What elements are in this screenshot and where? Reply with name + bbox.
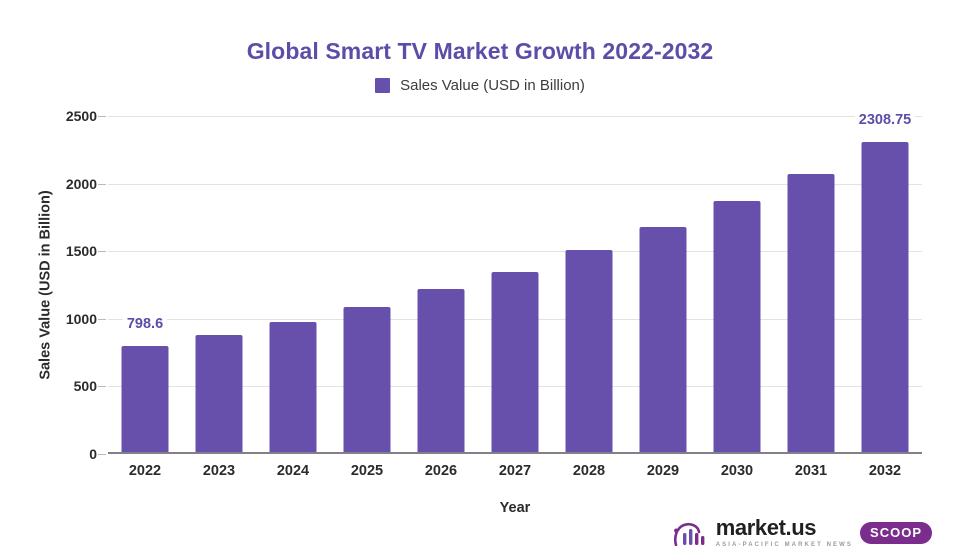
market-us-logo-icon xyxy=(673,520,707,546)
y-tick-mark xyxy=(98,116,106,117)
bar[interactable] xyxy=(122,346,169,454)
x-tick-label: 2027 xyxy=(499,463,531,479)
chart-title: Global Smart TV Market Growth 2022-2032 xyxy=(0,38,960,65)
y-tick-label: 2000 xyxy=(66,176,97,192)
bar[interactable] xyxy=(418,289,465,454)
x-tick-label: 2031 xyxy=(795,463,827,479)
bar[interactable] xyxy=(196,335,243,454)
bar-group: 2023 xyxy=(182,116,256,454)
bar-group: 2025 xyxy=(330,116,404,454)
bar-value-label: 798.6 xyxy=(123,316,167,332)
x-tick-label: 2032 xyxy=(869,463,901,479)
bar-group: 798.62022 xyxy=(108,116,182,454)
legend-label-sales-value: Sales Value (USD in Billion) xyxy=(400,77,585,94)
brand-wordmark: market.us ASIA-PACIFIC MARKET NEWS xyxy=(716,517,853,548)
chart-card: Global Smart TV Market Growth 2022-2032 … xyxy=(0,0,960,560)
y-tick-label: 2500 xyxy=(66,108,97,124)
brand-name: market.us xyxy=(716,517,816,539)
y-tick-label: 0 xyxy=(89,446,97,462)
brand-tagline: ASIA-PACIFIC MARKET NEWS xyxy=(716,542,853,548)
bar[interactable] xyxy=(640,227,687,454)
bar-group: 2308.752032 xyxy=(848,116,922,454)
bar[interactable] xyxy=(344,307,391,454)
bar-group: 2031 xyxy=(774,116,848,454)
y-tick-mark xyxy=(98,319,106,320)
x-tick-label: 2024 xyxy=(277,463,309,479)
bar[interactable] xyxy=(492,272,539,454)
x-axis-title: Year xyxy=(108,500,922,516)
y-tick-mark xyxy=(98,386,106,387)
y-tick-mark xyxy=(98,251,106,252)
y-tick-label: 1000 xyxy=(66,311,97,327)
plot-area: 05001000150020002500 798.620222023202420… xyxy=(108,116,922,454)
bar-group: 2026 xyxy=(404,116,478,454)
y-axis-title: Sales Value (USD in Billion) xyxy=(36,116,56,454)
bar-group: 2027 xyxy=(478,116,552,454)
y-axis-title-text: Sales Value (USD in Billion) xyxy=(38,190,54,379)
x-tick-label: 2026 xyxy=(425,463,457,479)
bar[interactable] xyxy=(862,142,909,454)
brand-badge-scoop: SCOOP xyxy=(860,522,932,544)
x-tick-label: 2030 xyxy=(721,463,753,479)
y-tick-label: 500 xyxy=(74,378,97,394)
bar[interactable] xyxy=(566,250,613,454)
x-tick-label: 2022 xyxy=(129,463,161,479)
bar-group: 2028 xyxy=(552,116,626,454)
y-tick-mark xyxy=(98,184,106,185)
y-tick-label: 1500 xyxy=(66,243,97,259)
bar-group: 2029 xyxy=(626,116,700,454)
x-tick-label: 2029 xyxy=(647,463,679,479)
y-tick-mark xyxy=(98,454,106,455)
bar-group: 2030 xyxy=(700,116,774,454)
brand-logo[interactable]: market.us ASIA-PACIFIC MARKET NEWS SCOOP xyxy=(673,517,932,548)
x-tick-label: 2028 xyxy=(573,463,605,479)
bar-value-label: 2308.75 xyxy=(855,112,915,128)
x-tick-label: 2025 xyxy=(351,463,383,479)
chart-legend: Sales Value (USD in Billion) xyxy=(0,77,960,94)
x-tick-label: 2023 xyxy=(203,463,235,479)
bar[interactable] xyxy=(714,201,761,454)
legend-swatch-sales-value xyxy=(375,78,390,93)
x-axis-line xyxy=(108,452,922,454)
bar-group: 2024 xyxy=(256,116,330,454)
bar[interactable] xyxy=(788,174,835,454)
bar[interactable] xyxy=(270,322,317,454)
